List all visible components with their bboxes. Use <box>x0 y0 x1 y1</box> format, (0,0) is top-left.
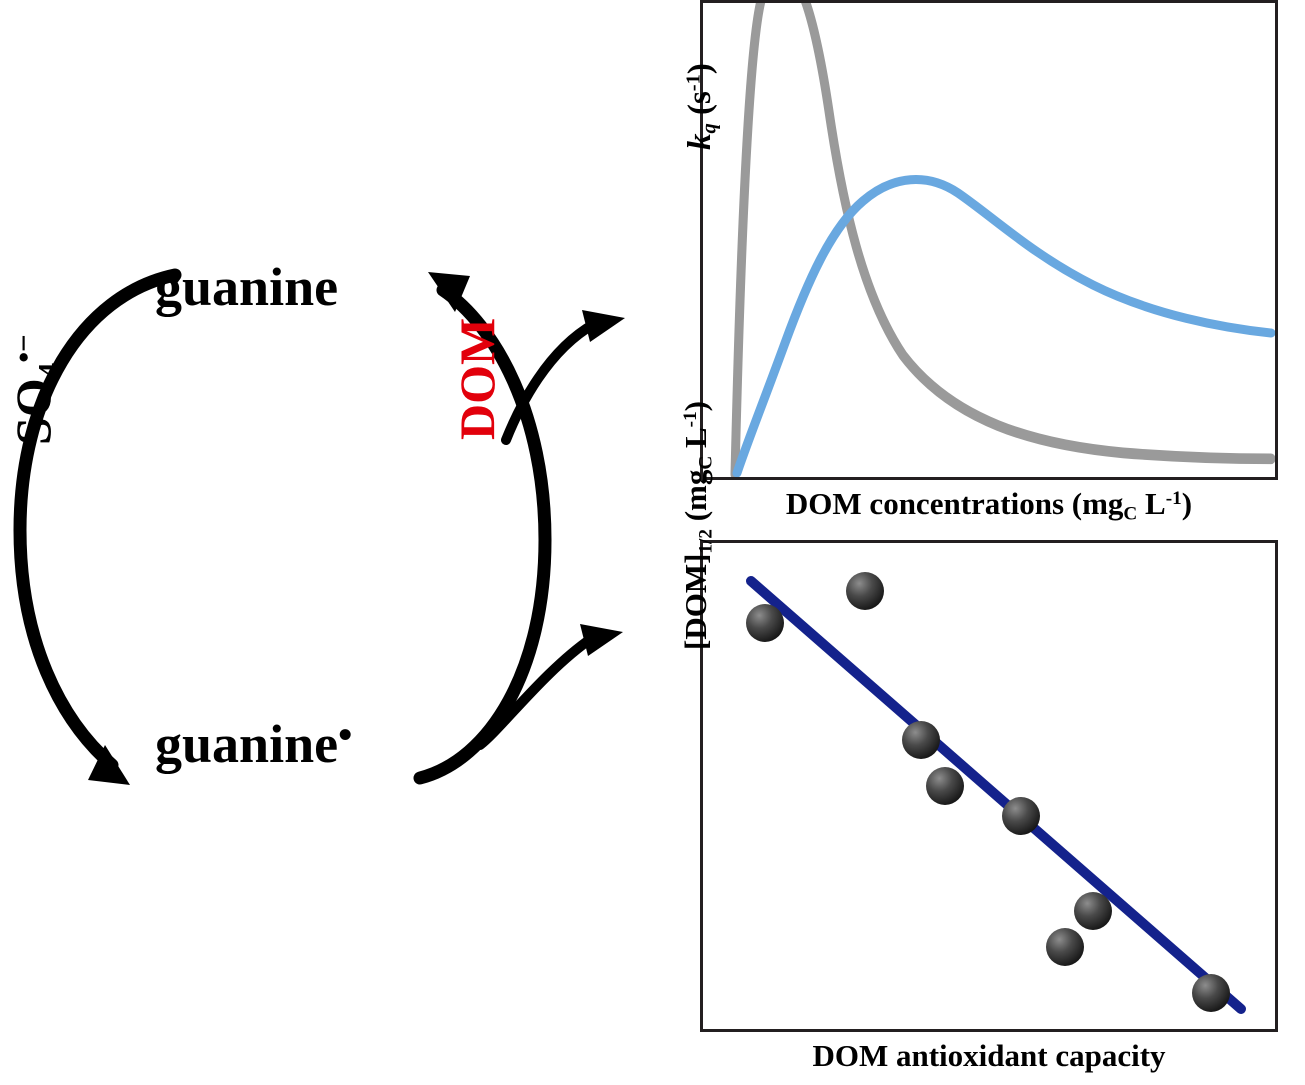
chart-kq-vs-dom: kq (s-1) DOM concentrations (mgC L-1) <box>700 0 1285 530</box>
guanine-radical-text: guanine <box>155 714 338 774</box>
chart-scatter-x-axis-label: DOM antioxidant capacity <box>700 1038 1278 1074</box>
chart-dom-half-vs-antioxidant: [DOM]1/2 (mgC L-1) DOM antioxidant capac… <box>700 540 1285 1085</box>
kq-subscript: q <box>699 123 721 133</box>
sulfate-charge-superscript: •− <box>6 334 41 363</box>
sulfate-subscript: 4 <box>31 363 66 379</box>
dom-conc-exponent: -1 <box>1166 488 1182 509</box>
kq-unit-exponent: -1 <box>682 74 704 91</box>
cycle-label-guanine: guanine <box>155 260 338 314</box>
scatter-point <box>926 767 964 805</box>
chart-scatter-svg <box>703 543 1275 1029</box>
dom-conc-text: DOM concentrations (mg <box>786 486 1124 521</box>
chart-kq-curves-svg <box>703 3 1275 477</box>
kq-unit: (s <box>682 91 718 123</box>
cycle-label-guanine-radical: guanine• <box>155 715 352 771</box>
dom-half-unit-tail: L <box>678 427 713 455</box>
branch-arc-lower <box>480 638 592 745</box>
scatter-point <box>1192 974 1230 1012</box>
scatter-point <box>902 721 940 759</box>
chart-kq-y-axis-label: kq (s-1) <box>682 63 722 150</box>
branch-arrowhead-upper <box>582 310 625 342</box>
radical-dot-icon: • <box>338 712 352 757</box>
cycle-label-sulfate-radical: SO4•− <box>8 334 64 445</box>
dom-conc-unit: L <box>1137 486 1165 521</box>
dom-conc-subscript: C <box>1123 503 1137 524</box>
cycle-label-dom: DOM <box>452 318 502 440</box>
dom-half-subscript: 1/2 <box>695 529 716 554</box>
dom-half-close: ) <box>678 401 713 411</box>
chart-kq-series-grey <box>735 3 1271 474</box>
scatter-point <box>1074 892 1112 930</box>
dom-conc-close: ) <box>1182 486 1192 521</box>
scatter-point <box>1002 797 1040 835</box>
scatter-point <box>746 604 784 642</box>
dom-half-unit: (mg <box>678 470 713 529</box>
scatter-point <box>1046 928 1084 966</box>
chart-kq-x-axis-label: DOM concentrations (mgC L-1) <box>700 486 1278 525</box>
redox-cycle-diagram: guanine guanine• SO4•− DOM <box>0 200 650 900</box>
chart-scatter-y-axis-label: [DOM]1/2 (mgC L-1) <box>678 401 717 650</box>
dom-half-exponent: -1 <box>680 411 701 427</box>
sulfate-text: SO <box>5 378 61 445</box>
chart-kq-plot-area <box>700 0 1278 480</box>
dom-half-text: [DOM] <box>678 554 713 650</box>
scatter-point <box>846 572 884 610</box>
chart-scatter-plot-area <box>700 540 1278 1032</box>
kq-symbol: k <box>682 134 718 151</box>
chart-scatter-trendline <box>751 581 1241 1009</box>
kq-unit-close: ) <box>682 63 718 74</box>
branch-arrowhead-lower <box>580 624 623 656</box>
figure-root: guanine guanine• SO4•− DOM kq (s-1) DOM … <box>0 0 1305 1085</box>
dom-half-unit-subscript: C <box>695 456 716 470</box>
